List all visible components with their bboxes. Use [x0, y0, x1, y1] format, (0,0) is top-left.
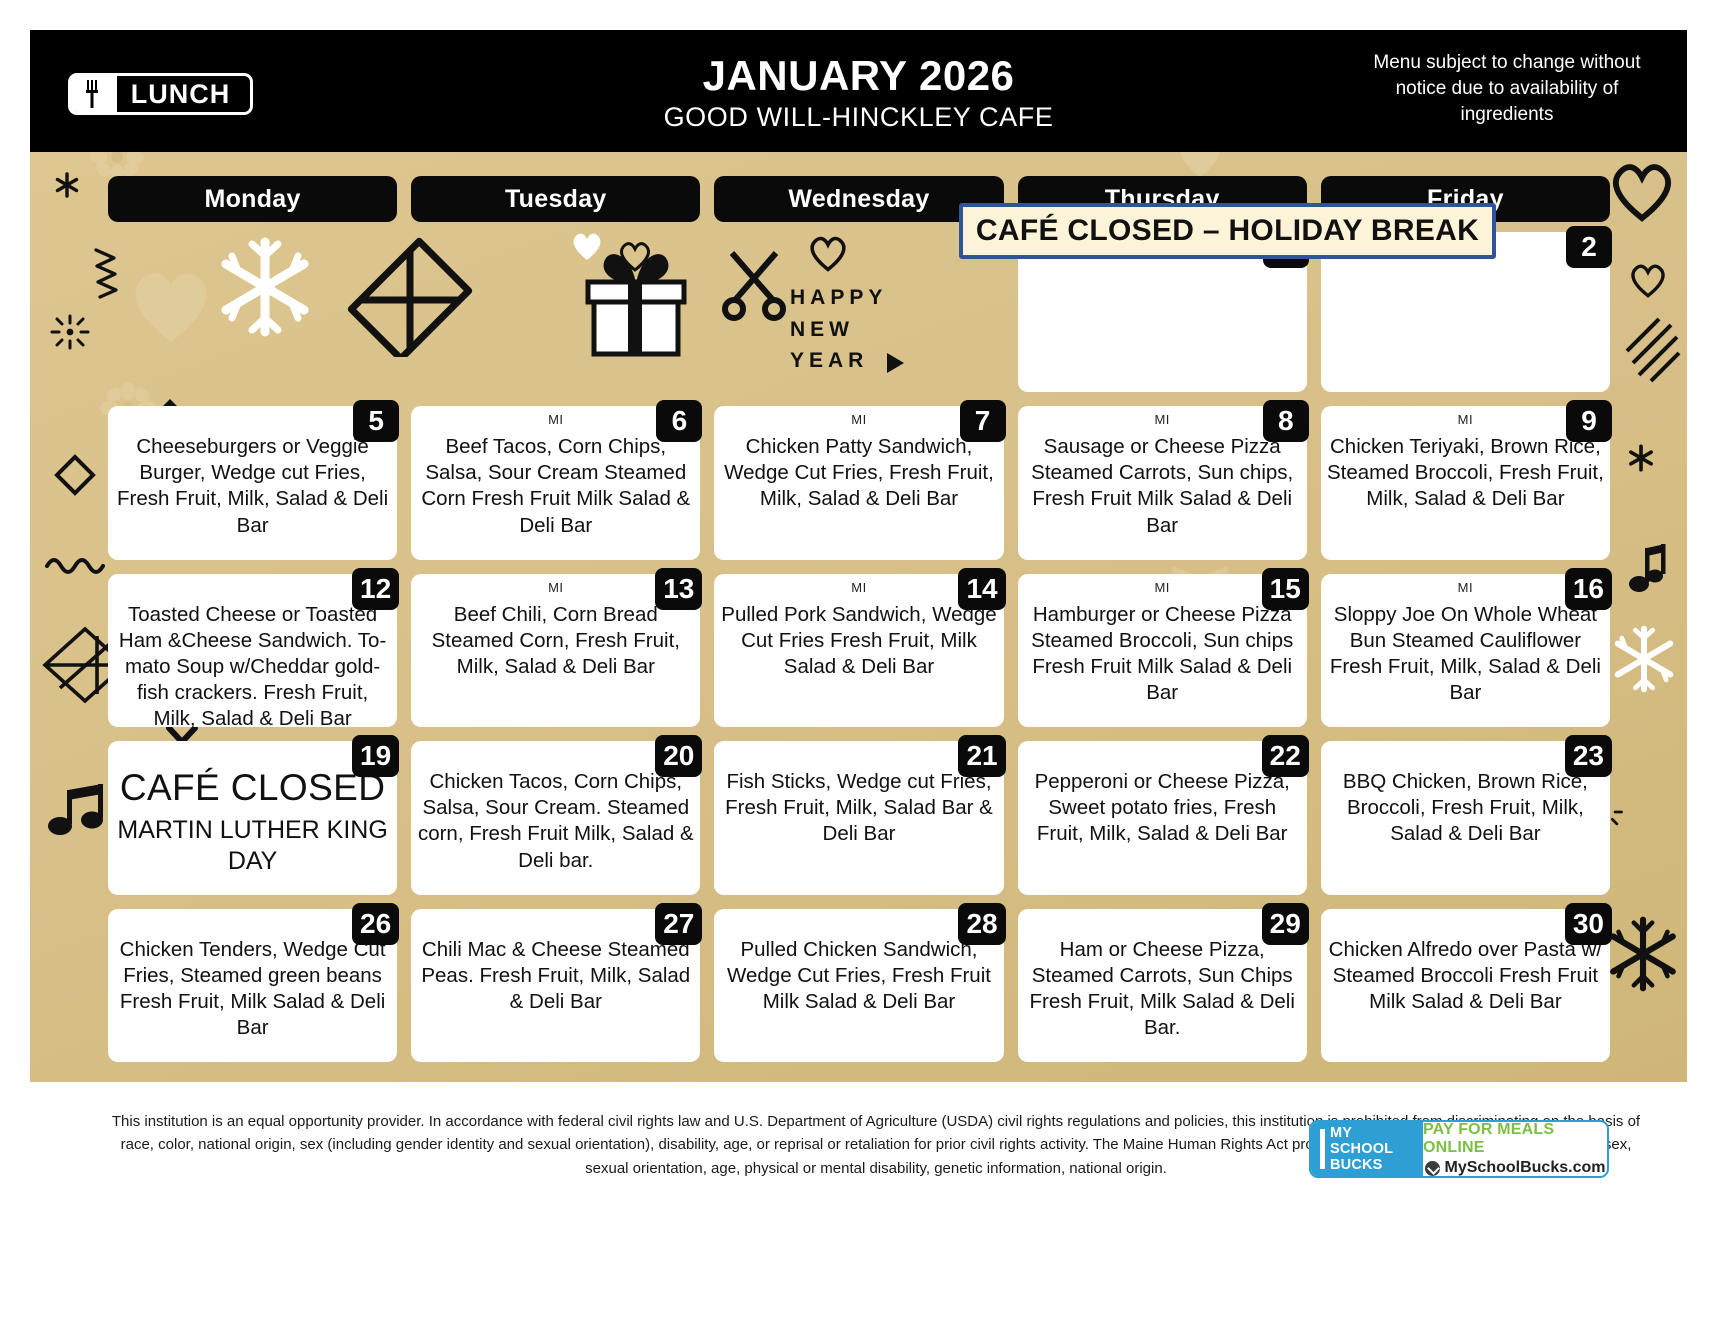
day-cell-29[interactable]: 29 Ham or Cheese Pizza, Steamed Carrots,… — [1018, 909, 1307, 1063]
music-note-right-icon — [1629, 542, 1671, 600]
brand-line-3: BUCKS — [1330, 1157, 1383, 1173]
day-cell-empty — [108, 232, 397, 392]
day-cell-7[interactable]: 7 MI Chicken Patty Sandwich, Wedge Cut F… — [714, 406, 1003, 560]
menu-text: Chicken Patty Sandwich, Wedge Cut Fries,… — [720, 434, 997, 513]
heart-right2-icon — [1629, 262, 1667, 298]
menu-text: Sloppy Joe On Whole Wheat Bun Steamed Ca… — [1327, 602, 1604, 707]
weekday-tuesday: Tuesday — [411, 176, 700, 222]
brand-lines: MY SCHOOL BUCKS — [1330, 1125, 1393, 1174]
wavy-line-icon — [44, 552, 106, 574]
date-badge: 22 — [1262, 735, 1309, 777]
menu-text: Cheeseburgers or Veggie Burger, Wedge cu… — [114, 434, 391, 539]
date-badge: 30 — [1565, 903, 1612, 945]
menu-text: Pulled Pork Sandwich, Wedge Cut Fries Fr… — [720, 602, 997, 681]
date-badge: 2 — [1566, 226, 1612, 268]
date-badge: 15 — [1262, 568, 1309, 610]
day-cell-20[interactable]: 20 Chicken Tacos, Corn Chips, Salsa, Sou… — [411, 741, 700, 895]
menu-text: Ham or Cheese Pizza, Steamed Carrots, Su… — [1024, 937, 1301, 1042]
date-badge: 5 — [353, 400, 399, 442]
page-header: LUNCH JANUARY 2026 GOOD WILL-HINCKLEY CA… — [30, 30, 1687, 152]
asterisk-right-icon — [1625, 442, 1657, 474]
url-text: MySchoolBucks.com — [1445, 1159, 1606, 1177]
day-cell-19[interactable]: 19 CAFÉ CLOSED MARTIN LUTHER KING DAY — [108, 741, 397, 895]
menu-change-note: Menu subject to change without notice du… — [1357, 50, 1657, 129]
holiday-break-banner: CAFÉ CLOSED – HOLIDAY BREAK — [959, 203, 1496, 259]
day-cell-21[interactable]: 21 Fish Sticks, Wedge cut Fries, Fresh F… — [714, 741, 1003, 895]
heart-right-icon — [1609, 160, 1675, 222]
date-badge: 23 — [1565, 735, 1612, 777]
menu-text: Chicken Tacos, Corn Chips, Salsa, Sour C… — [417, 769, 694, 874]
asterisk-icon — [52, 170, 82, 200]
pay-for-meals-label: PAY FOR MEALS ONLINE — [1423, 1121, 1607, 1157]
date-badge: 14 — [958, 568, 1005, 610]
date-badge: 27 — [655, 903, 702, 945]
menu-text: Fish Sticks, Wedge cut Fries, Fresh Frui… — [720, 769, 997, 848]
date-badge: 29 — [1262, 903, 1309, 945]
brand-bar-icon — [1320, 1129, 1325, 1169]
menu-text: BBQ Chicken, Brown Rice, Broccoli, Fresh… — [1327, 769, 1604, 848]
date-badge: 13 — [655, 568, 702, 610]
hatch-right-icon — [1619, 317, 1681, 383]
day-cell-5[interactable]: 5 Cheeseburgers or Veggie Burger, Wedge … — [108, 406, 397, 560]
menu-text: Beef Chili, Corn Bread Steamed Corn, Fre… — [417, 602, 694, 681]
myschoolbucks-badge[interactable]: MY SCHOOL BUCKS PAY FOR MEALS ONLINE MyS… — [1309, 1120, 1609, 1178]
menu-text: Chicken Teriyaki, Brown Rice, Steamed Br… — [1327, 434, 1604, 513]
calendar-board: HAPPYNEWYEAR — [30, 152, 1687, 1082]
menu-text: Chicken Tenders, Wedge Cut Fries, Steame… — [114, 937, 391, 1042]
check-circle-icon — [1425, 1161, 1440, 1176]
page-footer: This institution is an equal opportunity… — [30, 1082, 1687, 1296]
date-badge: 28 — [958, 903, 1005, 945]
myschoolbucks-cta[interactable]: PAY FOR MEALS ONLINE MySchoolBucks.com — [1423, 1122, 1607, 1176]
menu-text: Hamburger or Cheese Pizza Steamed Brocco… — [1024, 602, 1301, 707]
brand-line-1: MY — [1330, 1125, 1352, 1141]
day-cell-12[interactable]: 12 Toasted Cheese or Toasted Ham &Cheese… — [108, 574, 397, 728]
menu-text: Beef Tacos, Corn Chips, Salsa, Sour Crea… — [417, 434, 694, 539]
day-cell-8[interactable]: 8 MI Sausage or Cheese Pizza Steamed Car… — [1018, 406, 1307, 560]
music-notes-icon — [48, 782, 112, 842]
menu-text: Pulled Chicken Sandwich, Wedge Cut Fries… — [720, 937, 997, 1016]
day-cell-30[interactable]: 30 Chicken Alfredo over Pasta w/ Steamed… — [1321, 909, 1610, 1063]
day-cell-26[interactable]: 26 Chicken Tenders, Wedge Cut Fries, Ste… — [108, 909, 397, 1063]
snowflake-bottom-right-icon — [1601, 912, 1685, 996]
date-badge: 8 — [1263, 400, 1309, 442]
day-cell-6[interactable]: 6 MI Beef Tacos, Corn Chips, Salsa, Sour… — [411, 406, 700, 560]
myschoolbucks-url[interactable]: MySchoolBucks.com — [1425, 1159, 1606, 1177]
day-cell-14[interactable]: 14 MI Pulled Pork Sandwich, Wedge Cut Fr… — [714, 574, 1003, 728]
date-badge: 20 — [655, 735, 702, 777]
date-badge: 21 — [958, 735, 1005, 777]
snowflake-right-icon — [1607, 622, 1681, 696]
date-badge: 6 — [656, 400, 702, 442]
date-badge: 19 — [352, 735, 399, 777]
brand-line-2: SCHOOL — [1330, 1141, 1393, 1157]
cafe-closed-subtitle: MARTIN LUTHER KING DAY — [108, 815, 397, 878]
date-badge: 26 — [352, 903, 399, 945]
day-cell-27[interactable]: 27 Chili Mac & Cheese Steamed Peas. Fres… — [411, 909, 700, 1063]
calendar-grid: 1 2 5 Cheeseburgers or Veggie Burger, We… — [108, 232, 1610, 1062]
date-badge: 16 — [1565, 568, 1612, 610]
weekday-monday: Monday — [108, 176, 397, 222]
day-cell-16[interactable]: 16 MI Sloppy Joe On Whole Wheat Bun Stea… — [1321, 574, 1610, 728]
menu-text: Chicken Alfredo over Pasta w/ Steamed Br… — [1327, 937, 1604, 1016]
day-cell-28[interactable]: 28 Pulled Chicken Sandwich, Wedge Cut Fr… — [714, 909, 1003, 1063]
date-badge: 12 — [352, 568, 399, 610]
menu-text: Chili Mac & Cheese Steamed Peas. Fresh F… — [417, 937, 694, 1016]
date-badge: 7 — [960, 400, 1006, 442]
menu-text: Pepperoni or Cheese Pizza, Sweet potato … — [1024, 769, 1301, 848]
myschoolbucks-brand: MY SCHOOL BUCKS — [1311, 1122, 1423, 1176]
day-cell-13[interactable]: 13 MI Beef Chili, Corn Bread Steamed Cor… — [411, 574, 700, 728]
day-cell-15[interactable]: 15 MI Hamburger or Cheese Pizza Steamed … — [1018, 574, 1307, 728]
sparkle-icon — [46, 312, 94, 352]
day-cell-9[interactable]: 9 MI Chicken Teriyaki, Brown Rice, Steam… — [1321, 406, 1610, 560]
lunch-menu-page: LUNCH JANUARY 2026 GOOD WILL-HINCKLEY CA… — [0, 0, 1717, 1326]
diamond-outline-icon — [52, 452, 98, 498]
day-cell-empty — [411, 232, 700, 392]
date-badge: 9 — [1566, 400, 1612, 442]
day-cell-23[interactable]: 23 BBQ Chicken, Brown Rice, Broccoli, Fr… — [1321, 741, 1610, 895]
menu-text: Sausage or Cheese Pizza Steamed Carrots,… — [1024, 434, 1301, 539]
menu-text: Toasted Cheese or Toasted Ham &Cheese Sa… — [114, 602, 391, 733]
day-cell-22[interactable]: 22 Pepperoni or Cheese Pizza, Sweet pota… — [1018, 741, 1307, 895]
